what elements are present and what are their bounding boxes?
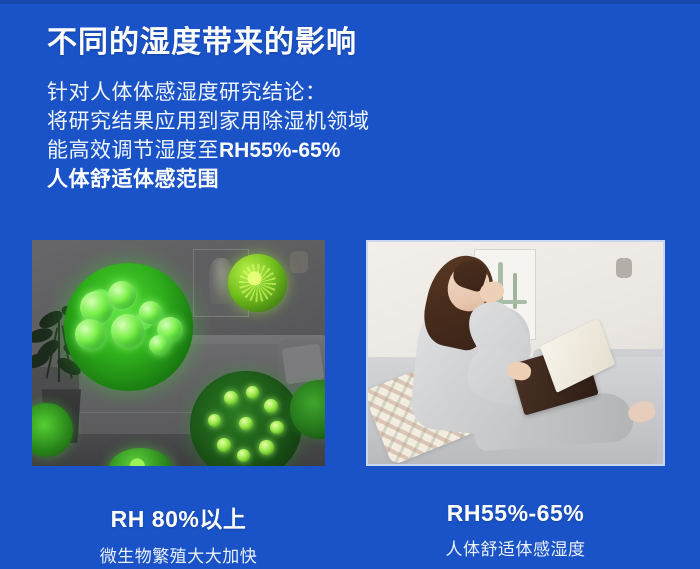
body-line-3: 能高效调节湿度至RH55%-65% — [47, 136, 507, 165]
microbe-sphere-top-right — [228, 254, 287, 313]
body-line-3-emphasis: RH55%-65% — [219, 139, 340, 162]
microbe-sphere-large — [64, 263, 193, 392]
body-line-3-text: 能高效调节湿度至 — [47, 139, 219, 162]
page-title: 不同的湿度带来的影响 — [47, 17, 357, 61]
bright-living-room-scene — [368, 242, 663, 464]
poster-root: 不同的湿度带来的影响 针对人体体感湿度研究结论： 将研究结果应用到家用除湿机领域… — [0, 0, 700, 569]
caption-high-humidity: RH 80%以上 微生物繁殖大大加快 — [32, 500, 325, 567]
body-copy-block: 针对人体体感湿度研究结论： 将研究结果应用到家用除湿机领域 能高效调节湿度至RH… — [47, 78, 507, 194]
top-edge-strip — [0, 0, 700, 4]
caption-comfort-humidity: RH55%-65% 人体舒适体感湿度 — [366, 500, 665, 560]
caption-sub-left: 微生物繁殖大大加快 — [32, 542, 325, 567]
wall-fixture — [290, 251, 308, 273]
sofa-cushion — [282, 344, 325, 385]
wall-fixture-bright — [616, 258, 632, 278]
body-line-1: 针对人体体感湿度研究结论： — [47, 78, 507, 107]
body-line-4: 人体舒适体感范围 — [47, 165, 507, 194]
photo-comfort-humidity — [366, 240, 665, 466]
caption-sub-right: 人体舒适体感湿度 — [366, 535, 665, 560]
body-line-2: 将研究结果应用到家用除湿机领域 — [47, 107, 507, 136]
dim-living-room-scene — [32, 240, 325, 466]
microbe-sphere-bottom — [190, 371, 301, 466]
caption-title-right: RH55%-65% — [366, 500, 665, 527]
caption-title-left: RH 80%以上 — [32, 500, 325, 534]
photo-high-humidity — [32, 240, 325, 466]
